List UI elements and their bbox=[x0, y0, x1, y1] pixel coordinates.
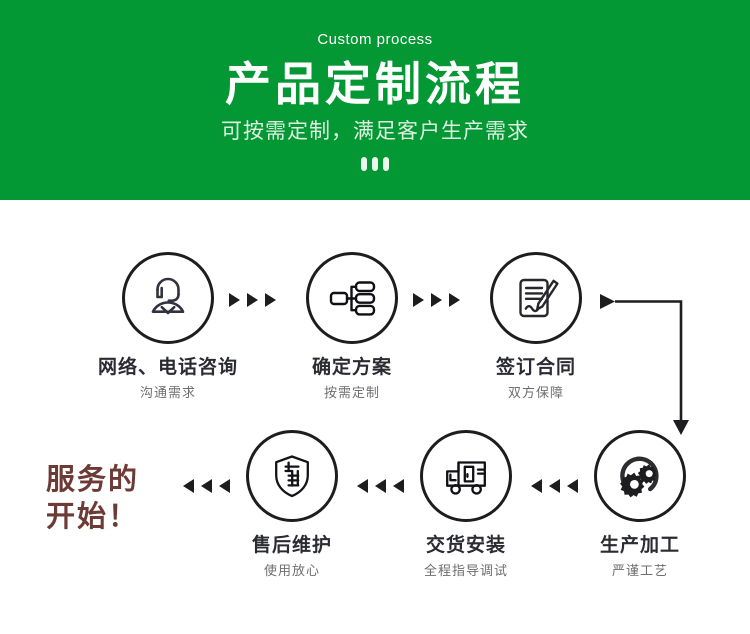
step-icon-circle bbox=[246, 430, 338, 522]
banner-dots-decoration bbox=[0, 157, 750, 171]
flow-step-after-sales[interactable]: 售后维护 使用放心 bbox=[212, 430, 372, 578]
process-flow-diagram: 网络、电话咨询 沟通需求 确定方案 按需 bbox=[0, 200, 750, 634]
triangle-left-icon bbox=[357, 479, 368, 493]
step-subtitle: 沟通需求 bbox=[88, 386, 248, 400]
headset-person-icon bbox=[139, 269, 197, 327]
shield-after-sales-icon bbox=[263, 447, 321, 505]
step-icon-circle bbox=[490, 252, 582, 344]
triangle-left-icon bbox=[201, 479, 212, 493]
step-subtitle: 按需定制 bbox=[272, 386, 432, 400]
arrow-group-plan-to-contract bbox=[413, 293, 460, 307]
dot-bar-3 bbox=[383, 157, 389, 171]
flow-step-plan[interactable]: 确定方案 按需定制 bbox=[272, 252, 432, 400]
contract-signing-icon bbox=[507, 269, 565, 327]
step-title: 网络、电话咨询 bbox=[88, 358, 248, 379]
step-icon-circle bbox=[594, 430, 686, 522]
flow-step-consultation[interactable]: 网络、电话咨询 沟通需求 bbox=[88, 252, 248, 400]
step-subtitle: 使用放心 bbox=[212, 564, 372, 578]
dot-bar-2 bbox=[372, 157, 378, 171]
dot-bar-1 bbox=[361, 157, 367, 171]
triangle-right-icon bbox=[229, 293, 240, 307]
start-label: 服务的 开始！ bbox=[46, 462, 186, 536]
triangle-right-icon bbox=[431, 293, 442, 307]
step-icon-circle bbox=[306, 252, 398, 344]
gears-production-icon bbox=[611, 447, 669, 505]
step-subtitle: 全程指导调试 bbox=[386, 564, 546, 578]
triangle-left-icon bbox=[183, 479, 194, 493]
step-title: 签订合同 bbox=[456, 358, 616, 379]
step-title: 交货安装 bbox=[386, 536, 546, 557]
flow-step-delivery[interactable]: 交货安装 全程指导调试 bbox=[386, 430, 546, 578]
triangle-left-icon bbox=[375, 479, 386, 493]
start-label-line-1: 服务的 bbox=[46, 462, 186, 499]
header-banner: Custom process 产品定制流程 可按需定制，满足客户生产需求 bbox=[0, 0, 750, 200]
step-title: 生产加工 bbox=[560, 536, 720, 557]
flowchart-icon bbox=[323, 269, 381, 327]
step-title: 售后维护 bbox=[212, 536, 372, 557]
step-subtitle: 双方保障 bbox=[456, 386, 616, 400]
flow-step-contract[interactable]: 签订合同 双方保障 bbox=[456, 252, 616, 400]
flow-step-production[interactable]: 生产加工 严谨工艺 bbox=[560, 430, 720, 578]
step-icon-circle bbox=[122, 252, 214, 344]
banner-headline: 产品定制流程 bbox=[0, 60, 750, 110]
header-banner-content: Custom process 产品定制流程 可按需定制，满足客户生产需求 bbox=[0, 0, 750, 171]
delivery-truck-icon bbox=[437, 447, 495, 505]
page-root: Custom process 产品定制流程 可按需定制，满足客户生产需求 bbox=[0, 0, 750, 634]
step-subtitle: 严谨工艺 bbox=[560, 564, 720, 578]
triangle-left-icon bbox=[549, 479, 560, 493]
triangle-left-icon bbox=[531, 479, 542, 493]
arrow-group-consultation-to-plan bbox=[229, 293, 276, 307]
start-label-line-2: 开始！ bbox=[46, 499, 186, 536]
step-icon-circle bbox=[420, 430, 512, 522]
step-title: 确定方案 bbox=[272, 358, 432, 379]
banner-subhead: 可按需定制，满足客户生产需求 bbox=[0, 121, 750, 142]
triangle-right-icon bbox=[247, 293, 258, 307]
banner-eyebrow: Custom process bbox=[0, 32, 750, 47]
triangle-right-icon bbox=[413, 293, 424, 307]
